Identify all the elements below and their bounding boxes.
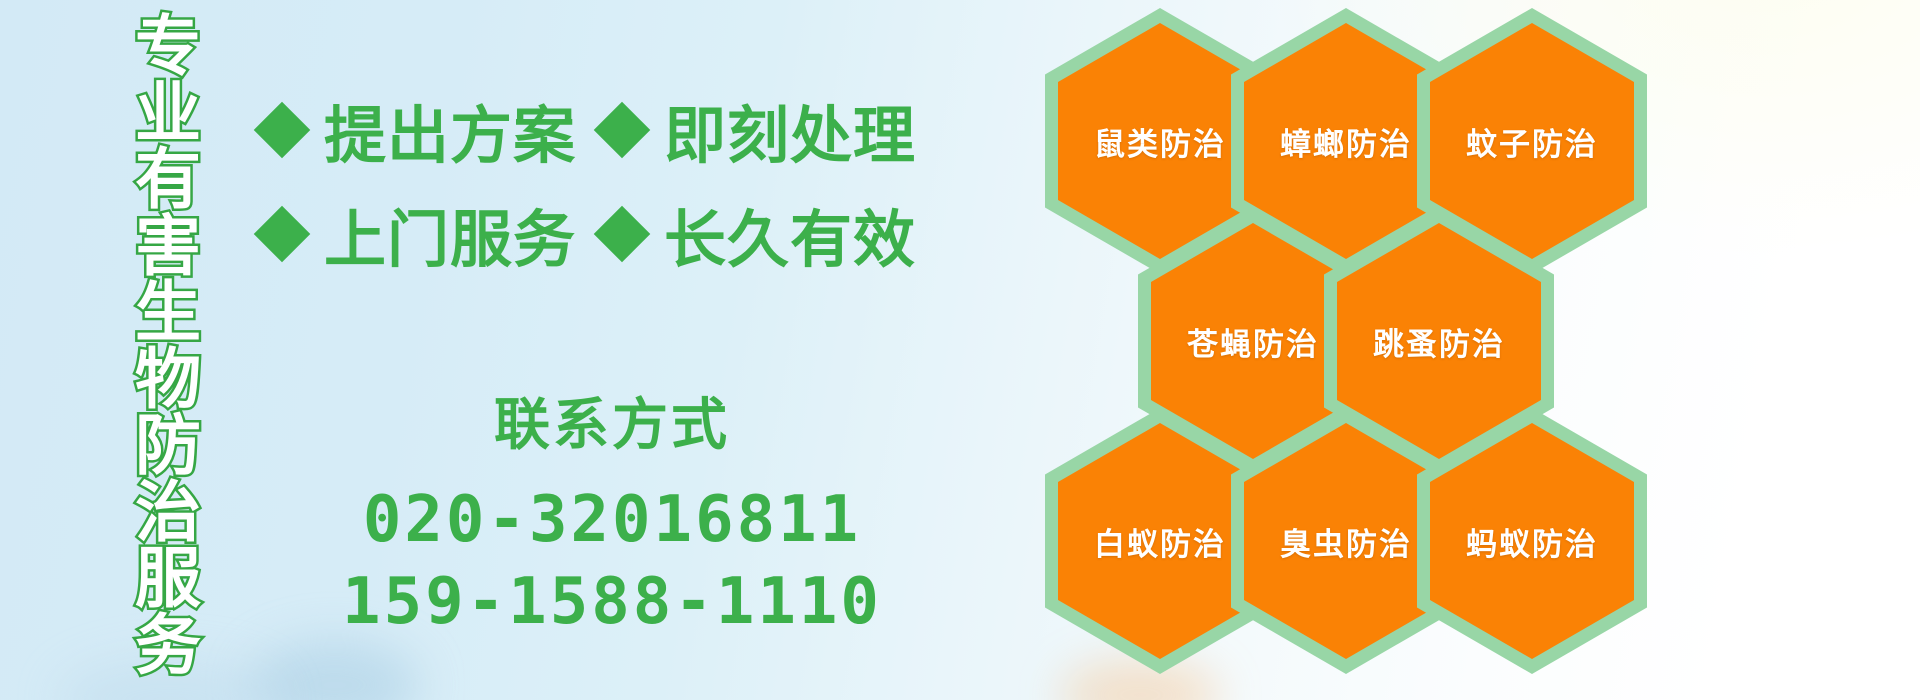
slogan-char: 防 <box>135 413 201 480</box>
banner-canvas: 专 业 有 害 生 物 防 治 服 务 提出方案 即刻处理 上门服务 长久有效 … <box>0 0 1920 700</box>
diamond-bullet-icon <box>594 206 651 263</box>
feature-list: 提出方案 即刻处理 上门服务 长久有效 <box>262 78 902 286</box>
slogan-char: 物 <box>135 347 201 414</box>
slogan-char: 害 <box>135 214 201 281</box>
feature-label: 提出方案 <box>324 85 576 175</box>
contact-block: 联系方式 020-32016811 159-1588-1110 <box>262 380 962 646</box>
phone-number-landline[interactable]: 020-32016811 <box>262 483 962 559</box>
hex-label: 鼠类防治 <box>1094 119 1226 164</box>
hex-label: 苍蝇防治 <box>1187 319 1319 364</box>
diamond-bullet-icon <box>254 102 311 159</box>
vertical-slogan: 专 业 有 害 生 物 防 治 服 务 <box>112 14 224 690</box>
slogan-char: 业 <box>135 81 201 148</box>
diamond-bullet-icon <box>254 206 311 263</box>
contact-title: 联系方式 <box>262 380 962 461</box>
slogan-char: 生 <box>135 280 201 347</box>
hex-inner: 蚂蚁防治 <box>1430 423 1634 659</box>
feature-label: 上门服务 <box>324 189 576 279</box>
feature-label: 即刻处理 <box>664 85 916 175</box>
hex-label: 白蚁防治 <box>1094 519 1226 564</box>
background-blur-blob <box>250 640 420 700</box>
slogan-char: 专 <box>135 14 201 81</box>
service-honeycomb: 鼠类防治 蟑螂防治 蚊子防治 苍蝇防治 跳蚤防治 白蚁防治 <box>1045 0 1645 700</box>
feature-row: 提出方案 即刻处理 <box>262 78 902 182</box>
diamond-bullet-icon <box>594 102 651 159</box>
hex-label: 蚊子防治 <box>1466 119 1598 164</box>
feature-row: 上门服务 长久有效 <box>262 182 902 286</box>
hex-label: 蟑螂防治 <box>1280 119 1412 164</box>
slogan-char: 治 <box>135 480 201 547</box>
hex-label: 跳蚤防治 <box>1373 319 1505 364</box>
phone-number-mobile[interactable]: 159-1588-1110 <box>262 565 962 641</box>
slogan-char: 有 <box>135 147 201 214</box>
hex-label: 臭虫防治 <box>1280 519 1412 564</box>
feature-label: 长久有效 <box>664 189 916 279</box>
hex-label: 蚂蚁防治 <box>1466 519 1598 564</box>
slogan-char: 务 <box>135 613 201 680</box>
slogan-char: 服 <box>135 546 201 613</box>
